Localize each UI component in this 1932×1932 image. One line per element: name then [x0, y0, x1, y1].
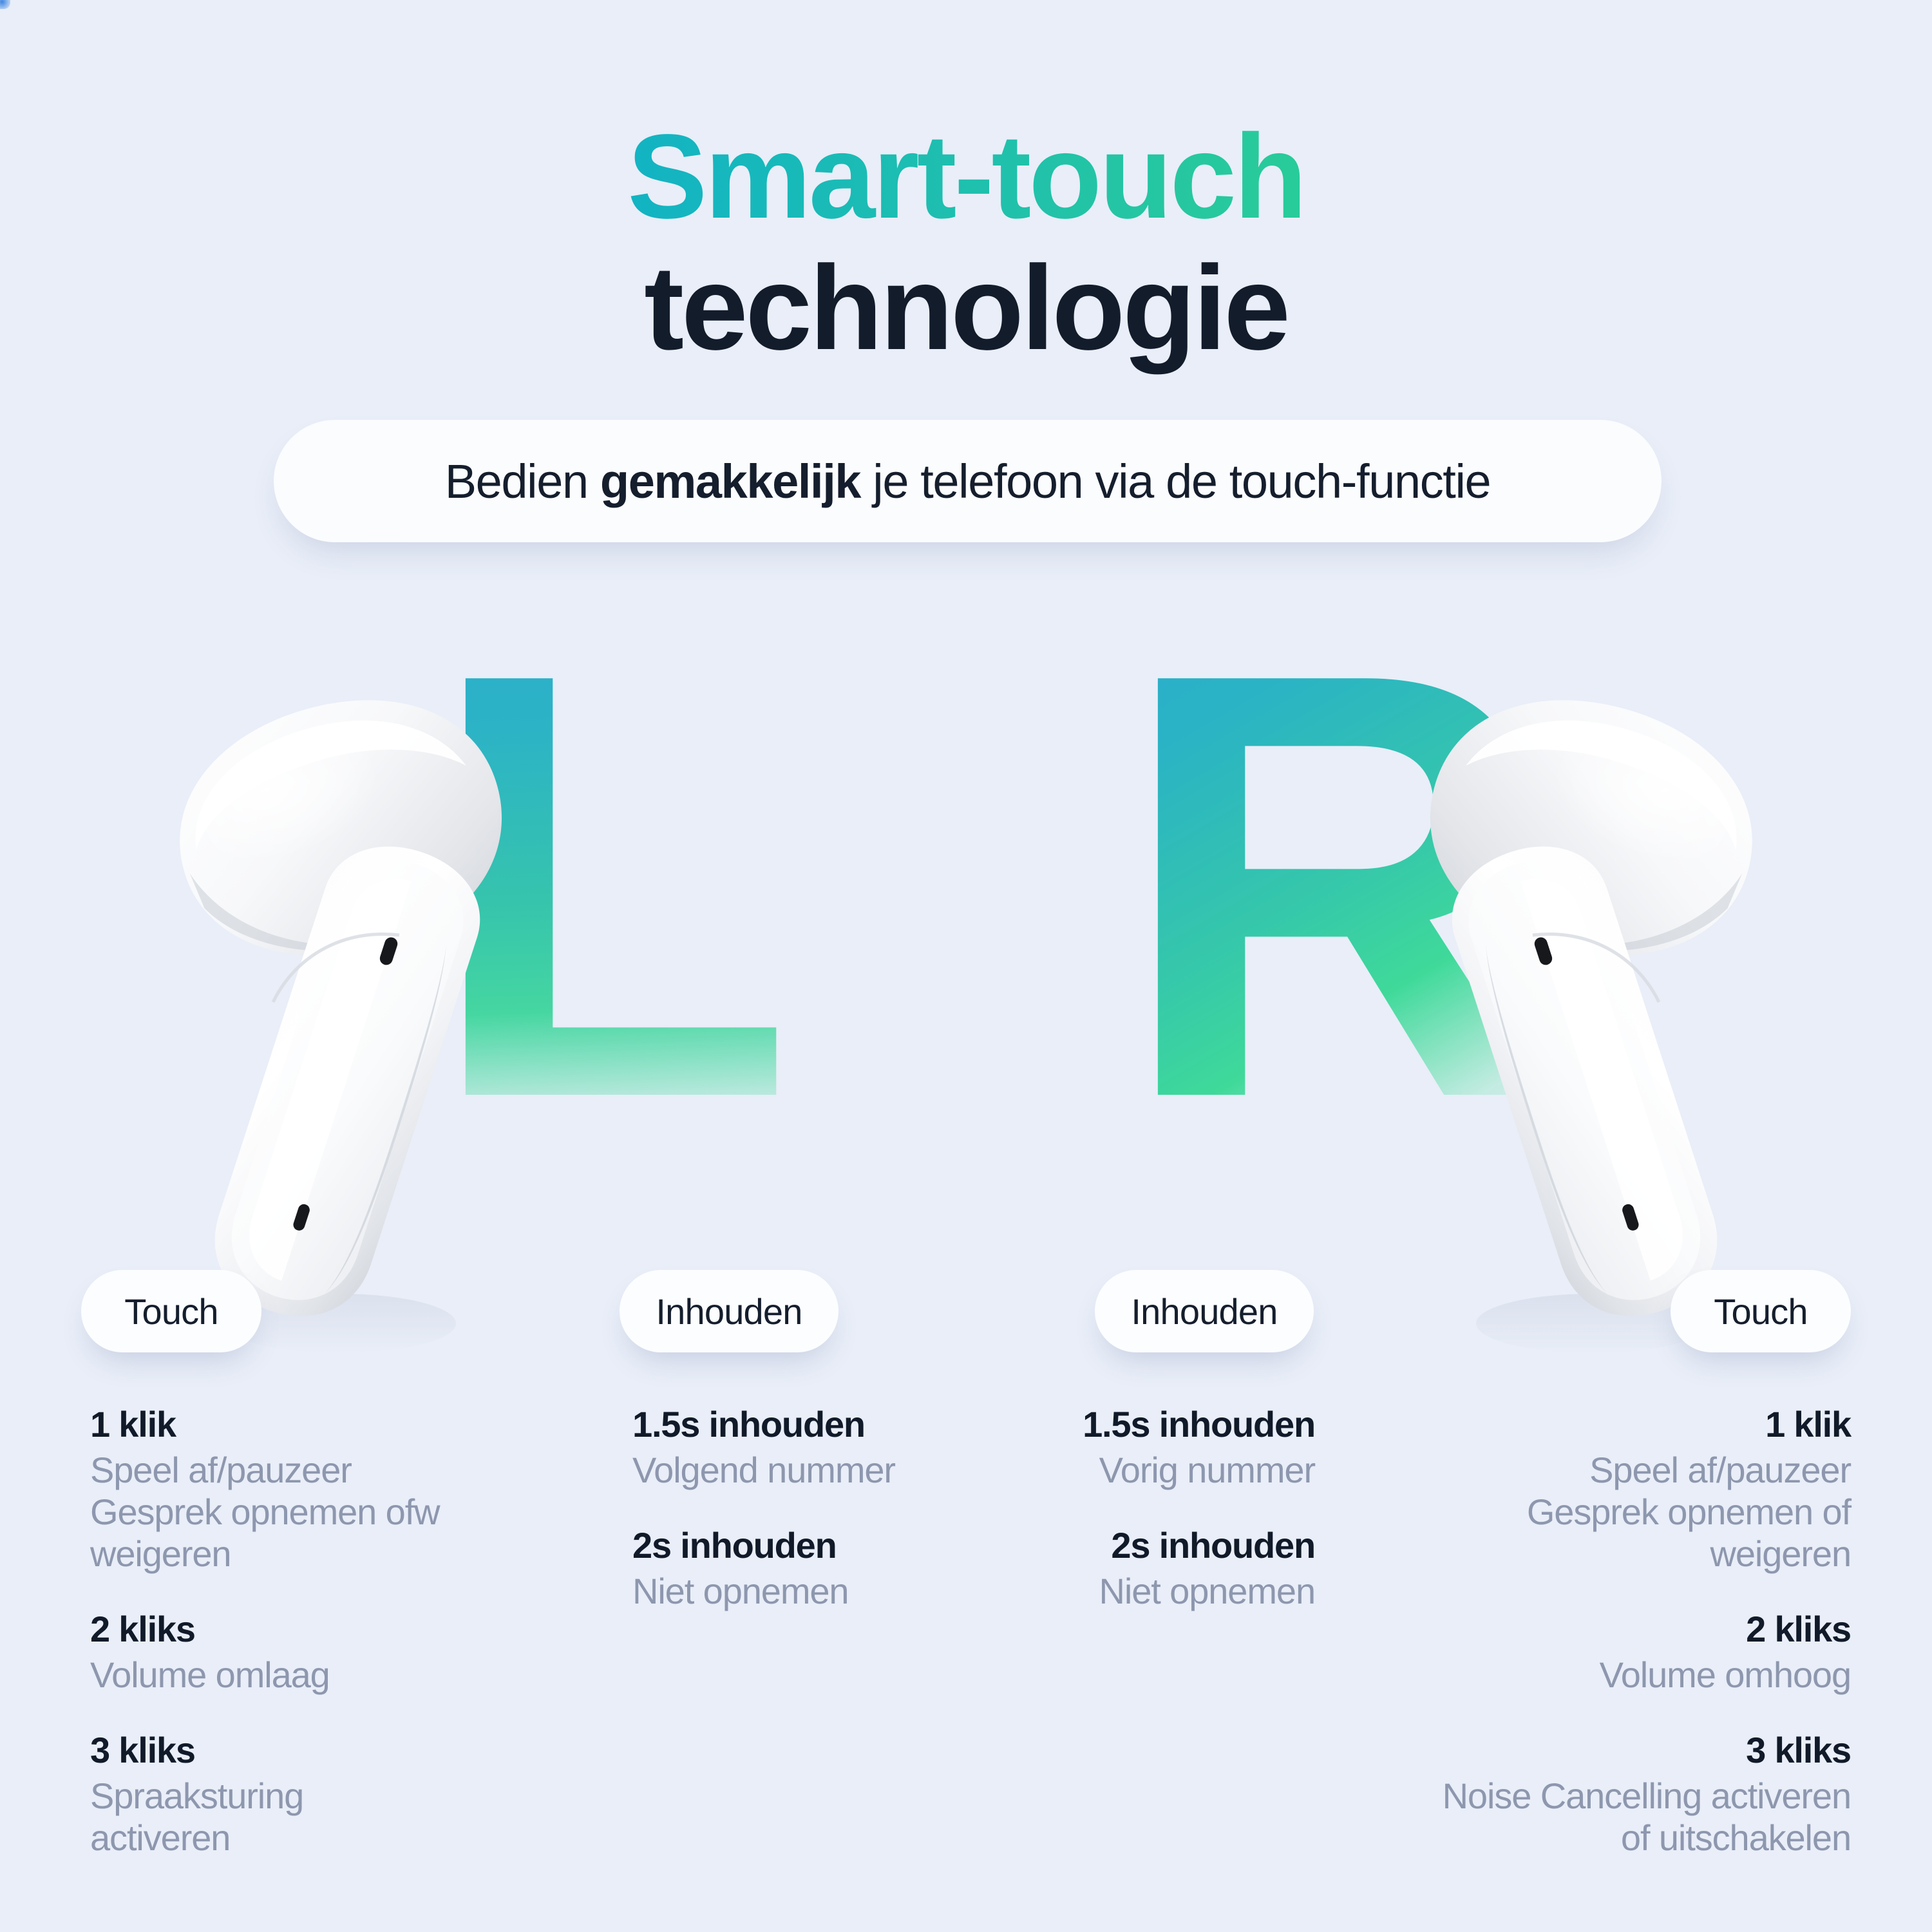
spec-item: 1 klik Speel af/pauzeer Gesprek opnemen … [1385, 1404, 1851, 1575]
spec-description: Vorig nummer [921, 1450, 1315, 1492]
label-pill-left-hold-text: Inhouden [656, 1291, 802, 1332]
label-pill-right-hold-text: Inhouden [1131, 1291, 1277, 1332]
title-line-smart-touch: Smart-touch [0, 116, 1932, 238]
spec-term: 1 klik [1385, 1404, 1851, 1446]
label-pill-right-touch: Touch [1671, 1270, 1851, 1352]
spec-description: Niet opnemen [921, 1571, 1315, 1613]
label-pill-right-touch-text: Touch [1714, 1291, 1807, 1332]
subtitle-banner: Bedien gemakkelijk je telefoon via de to… [274, 420, 1662, 542]
spec-item: 2s inhouden Niet opnemen [921, 1525, 1315, 1613]
infographic-canvas: Smart-touch technologie Bedien gemakkeli… [0, 0, 1932, 1932]
label-pill-left-touch-text: Touch [124, 1291, 218, 1332]
spec-description: Spraaksturing activeren [90, 1776, 554, 1859]
spec-description: Volume omlaag [90, 1654, 554, 1696]
subtitle-suffix: je telefoon via de touch-functie [860, 455, 1490, 508]
label-pill-left-hold: Inhouden [620, 1270, 838, 1352]
earbud-left-image [147, 676, 559, 1365]
spec-term: 3 kliks [1385, 1730, 1851, 1772]
corner-artifact [0, 0, 10, 9]
subtitle-text: Bedien gemakkelijk je telefoon via de to… [445, 454, 1491, 509]
spec-column-left-touch: 1 klik Speel af/pauzeer Gesprek opnemen … [90, 1404, 554, 1859]
spec-description: Noise Cancelling activeren of uitschakel… [1385, 1776, 1851, 1859]
spec-term: 3 kliks [90, 1730, 554, 1772]
spec-description: Volume omhoog [1385, 1654, 1851, 1696]
spec-description: Speel af/pauzeer Gesprek opnemen ofw wei… [90, 1450, 554, 1575]
spec-item: 2 kliks Volume omlaag [90, 1609, 554, 1696]
spec-term: 2 kliks [90, 1609, 554, 1651]
page-title: Smart-touch technologie [0, 116, 1932, 369]
spec-column-right-hold: 1.5s inhouden Vorig nummer 2s inhouden N… [921, 1404, 1315, 1613]
spec-term: 1.5s inhouden [921, 1404, 1315, 1446]
spec-term: 1 klik [90, 1404, 554, 1446]
subtitle-prefix: Bedien [445, 455, 600, 508]
spec-term: 2s inhouden [921, 1525, 1315, 1567]
spec-item: 3 kliks Spraaksturing activeren [90, 1730, 554, 1859]
spec-item: 2 kliks Volume omhoog [1385, 1609, 1851, 1696]
subtitle-emphasis: gemakkelijk [600, 455, 860, 508]
spec-item: 3 kliks Noise Cancelling activeren of ui… [1385, 1730, 1851, 1859]
spec-description: Speel af/pauzeer Gesprek opnemen of weig… [1385, 1450, 1851, 1575]
earbud-right-image [1373, 676, 1785, 1365]
label-pill-left-touch: Touch [81, 1270, 261, 1352]
title-line-technologie: technologie [0, 247, 1932, 370]
spec-term: 2 kliks [1385, 1609, 1851, 1651]
spec-item: 1.5s inhouden Vorig nummer [921, 1404, 1315, 1492]
spec-column-right-touch: 1 klik Speel af/pauzeer Gesprek opnemen … [1385, 1404, 1851, 1859]
label-pill-right-hold: Inhouden [1095, 1270, 1314, 1352]
spec-item: 1 klik Speel af/pauzeer Gesprek opnemen … [90, 1404, 554, 1575]
